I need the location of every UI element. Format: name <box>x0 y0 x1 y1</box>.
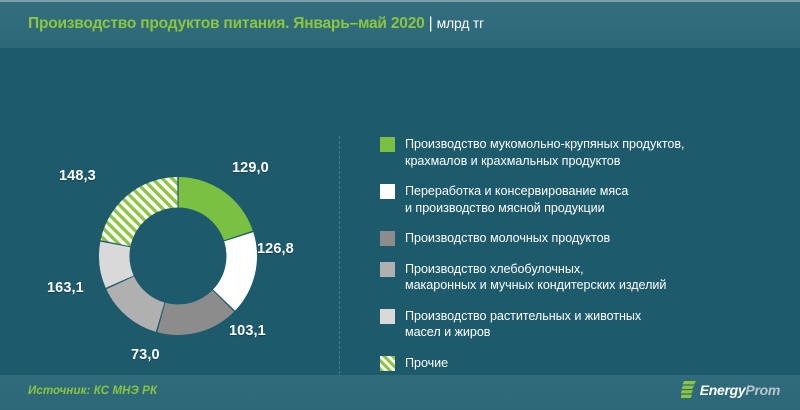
data-label-3: 103,1 <box>229 323 266 339</box>
vertical-divider <box>339 136 340 394</box>
legend-label-5: Прочие <box>405 355 448 372</box>
legend-swatch-dark-gray <box>380 231 395 246</box>
logo-energy-text: Energy <box>700 382 746 398</box>
legend-swatch-white <box>380 184 395 199</box>
data-label-2: 126,8 <box>257 241 294 257</box>
legend-item-2[interactable]: Производство молочных продуктов <box>380 230 780 247</box>
logo-e-icon <box>681 381 696 398</box>
legend-swatch-light-gray <box>380 309 395 324</box>
donut-segment-3[interactable] <box>106 276 164 331</box>
legend-label-0-line1: Производство мукомольно-крупяных продукт… <box>405 137 684 151</box>
legend-label-0: Производство мукомольно-крупяных продукт… <box>405 136 684 169</box>
legend-swatch-mid-gray <box>380 262 395 277</box>
legend-item-5[interactable]: Прочие <box>380 355 780 372</box>
legend-label-4-line2: масел и жиров <box>405 324 641 341</box>
page-title: Производство продуктов питания. Январь–м… <box>28 15 484 33</box>
legend-label-0-line2: крахмалов и крахмальных продуктов <box>405 153 684 170</box>
legend-label-4: Производство растительных и животных мас… <box>405 308 641 341</box>
legend-label-1: Переработка и консервирование мяса и про… <box>405 183 628 216</box>
legend-label-5-line1: Прочие <box>405 356 448 370</box>
legend-swatch-hatch-green <box>380 356 395 371</box>
data-label-1: 129,0 <box>232 160 269 176</box>
donut-svg <box>98 176 258 336</box>
legend-label-2-line1: Производство молочных продуктов <box>405 231 610 245</box>
header-band: Производство продуктов питания. Январь–м… <box>0 0 800 48</box>
energyprom-logo-text: EnergyProm <box>700 382 780 398</box>
data-label-5: 163,1 <box>47 280 84 296</box>
energyprom-logo-icon <box>681 381 696 398</box>
chart-body: 148,3 129,0 126,8 103,1 73,0 163,1 Произ… <box>0 48 800 375</box>
donut-segment-5[interactable] <box>101 177 178 246</box>
legend-label-3: Производство хлебобулочных, макаронных и… <box>405 261 666 294</box>
title-main-text: Производство продуктов питания. Январь–м… <box>28 15 425 32</box>
data-label-4: 73,0 <box>131 347 160 363</box>
legend-label-3-line2: макаронных и мучных кондитерских изделий <box>405 277 666 294</box>
legend-item-0[interactable]: Производство мукомольно-крупяных продукт… <box>380 136 780 169</box>
energyprom-logo: EnergyProm <box>681 381 780 398</box>
donut-chart <box>98 176 258 336</box>
logo-prom-text: Prom <box>745 382 780 398</box>
title-unit: млрд тг <box>437 15 484 31</box>
legend-item-1[interactable]: Переработка и консервирование мяса и про… <box>380 183 780 216</box>
chart-legend: Производство мукомольно-крупяных продукт… <box>380 136 780 371</box>
donut-segments <box>99 177 257 335</box>
legend-label-4-line1: Производство растительных и животных <box>405 309 641 323</box>
donut-segment-0[interactable] <box>178 177 252 240</box>
data-label-0: 148,3 <box>59 168 96 184</box>
legend-label-1-line2: и производство мясной продукции <box>405 200 628 217</box>
legend-label-2: Производство молочных продуктов <box>405 230 610 247</box>
legend-item-3[interactable]: Производство хлебобулочных, макаронных и… <box>380 261 780 294</box>
source-note: Источник: КС МНЭ РК <box>28 385 157 397</box>
legend-label-3-line1: Производство хлебобулочных, <box>405 262 584 276</box>
legend-item-4[interactable]: Производство растительных и животных мас… <box>380 308 780 341</box>
legend-swatch-green <box>380 137 395 152</box>
legend-label-1-line1: Переработка и консервирование мяса <box>405 184 628 198</box>
title-separator: | <box>429 15 433 32</box>
chart-page: Производство продуктов питания. Январь–м… <box>0 0 800 410</box>
